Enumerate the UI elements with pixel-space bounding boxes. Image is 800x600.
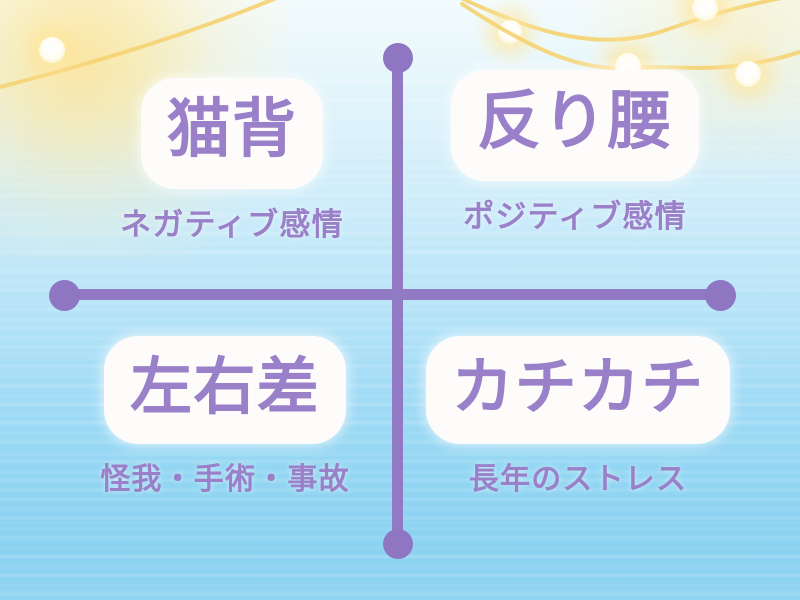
quadrant-top-left-caption: ネガティブ感情 — [120, 199, 344, 244]
quadrant-top-left-label: 猫背 — [167, 84, 298, 177]
axis-endpoint-dot-right — [705, 280, 736, 311]
quadrant-bottom-right: カチカチ 長年のストレス — [408, 336, 748, 498]
axis-horizontal-line — [65, 289, 721, 300]
quadrant-bottom-right-label: カチカチ — [452, 342, 705, 432]
quadrant-bottom-left-card: 左右差 — [104, 336, 346, 444]
poster-canvas: 猫背 ネガティブ感情 反り腰 ポジティブ感情 左右差 怪我・手術・事故 カチカチ… — [0, 0, 800, 600]
quadrant-top-left: 猫背 ネガティブ感情 — [67, 78, 397, 244]
quadrant-bottom-right-caption: 長年のストレス — [469, 454, 687, 498]
quadrant-top-left-card: 猫背 — [141, 78, 324, 189]
quadrant-top-right-card: 反り腰 — [451, 70, 699, 181]
axis-endpoint-dot-left — [49, 280, 80, 311]
quadrant-bottom-right-card: カチカチ — [426, 336, 731, 444]
quadrant-bottom-left-caption: 怪我・手術・事故 — [100, 454, 350, 498]
axis-endpoint-dot-bottom — [383, 529, 413, 559]
quadrant-top-right: 反り腰 ポジティブ感情 — [410, 70, 740, 236]
axis-endpoint-dot-top — [383, 43, 413, 73]
quadrant-bottom-left: 左右差 怪我・手術・事故 — [55, 336, 395, 498]
quadrant-top-right-caption: ポジティブ感情 — [463, 191, 687, 236]
quadrant-bottom-left-label: 左右差 — [130, 342, 320, 432]
quadrant-top-right-label: 反り腰 — [477, 76, 673, 169]
